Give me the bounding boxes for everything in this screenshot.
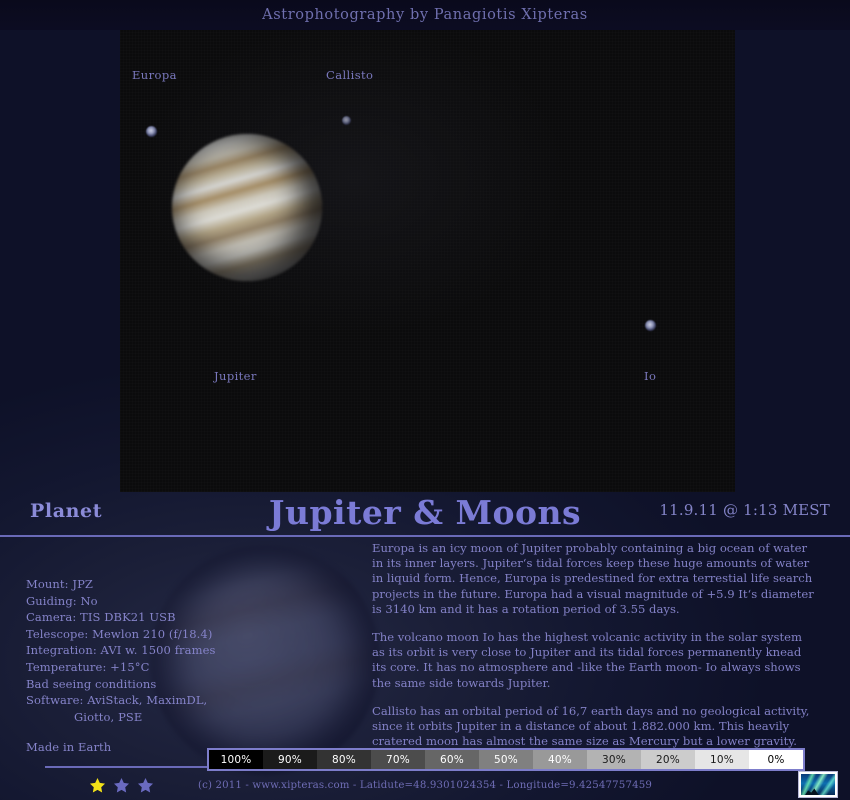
title-bar: Planet Jupiter & Moons 11.9.11 @ 1:13 ME… — [0, 492, 850, 536]
callisto-moon-dot — [342, 116, 351, 125]
scale-step-0pct: 0% — [749, 750, 803, 769]
photo-label-jupiter: Jupiter — [214, 369, 257, 383]
spec-integration: Integration: AVI w. 1500 frames — [26, 642, 296, 659]
europa-moon-dot — [146, 126, 157, 137]
capture-timestamp: 11.9.11 @ 1:13 MEST — [659, 501, 830, 519]
spec-temperature: Temperature: +15°C — [26, 659, 296, 676]
description-paragraph-callisto: Callisto has an orbital period of 16,7 e… — [372, 704, 814, 750]
spec-telescope: Telescope: Mewlon 210 (f/18.4) — [26, 626, 296, 643]
description-paragraph-europa: Europa is an icy moon of Jupiter probabl… — [372, 541, 814, 617]
astrophoto-image[interactable]: Europa Callisto Jupiter Io — [120, 30, 735, 492]
scale-step-100pct: 100% — [209, 750, 263, 769]
site-title: Astrophotography by Panagiotis Xipteras — [262, 7, 588, 23]
scale-step-50pct: 50% — [479, 750, 533, 769]
description-paragraph-io: The volcano moon Io has the highest volc… — [372, 630, 814, 691]
scale-step-30pct: 30% — [587, 750, 641, 769]
io-moon-dot — [645, 320, 656, 331]
equipment-specs: Mount: JPZ Guiding: No Camera: TIS DBK21… — [26, 576, 296, 756]
photo-label-callisto: Callisto — [326, 68, 373, 82]
spec-spacer — [26, 725, 296, 739]
spec-seeing: Bad seeing conditions — [26, 676, 296, 693]
photo-label-io: Io — [644, 369, 656, 383]
top-banner: Astrophotography by Panagiotis Xipteras — [0, 0, 850, 30]
aurora-thumbnail[interactable] — [798, 771, 838, 798]
spec-camera: Camera: TIS DBK21 USB — [26, 609, 296, 626]
spec-software-continued: Giotto, PSE — [26, 709, 296, 726]
scale-step-90pct: 90% — [263, 750, 317, 769]
scale-step-20pct: 20% — [641, 750, 695, 769]
footer-credit: (c) 2011 - www.xipteras.com - Latidute=4… — [0, 780, 850, 791]
scale-step-10pct: 10% — [695, 750, 749, 769]
jupiter-planet-disc — [172, 134, 322, 281]
aurora-thumbnail-image — [801, 774, 835, 795]
spec-mount: Mount: JPZ — [26, 576, 296, 593]
grayscale-scale-bar: 100%90%80%70%60%50%40%30%20%10%0% — [207, 748, 805, 771]
photo-label-europa: Europa — [132, 68, 177, 82]
scale-step-40pct: 40% — [533, 750, 587, 769]
divider-top — [0, 535, 850, 537]
spec-guiding: Guiding: No — [26, 593, 296, 610]
spec-software: Software: AviStack, MaximDL, — [26, 692, 296, 709]
scale-step-70pct: 70% — [371, 750, 425, 769]
description-text: Europa is an icy moon of Jupiter probabl… — [372, 541, 814, 762]
scale-step-80pct: 80% — [317, 750, 371, 769]
page-root: Astrophotography by Panagiotis Xipteras … — [0, 0, 850, 800]
scale-step-60pct: 60% — [425, 750, 479, 769]
